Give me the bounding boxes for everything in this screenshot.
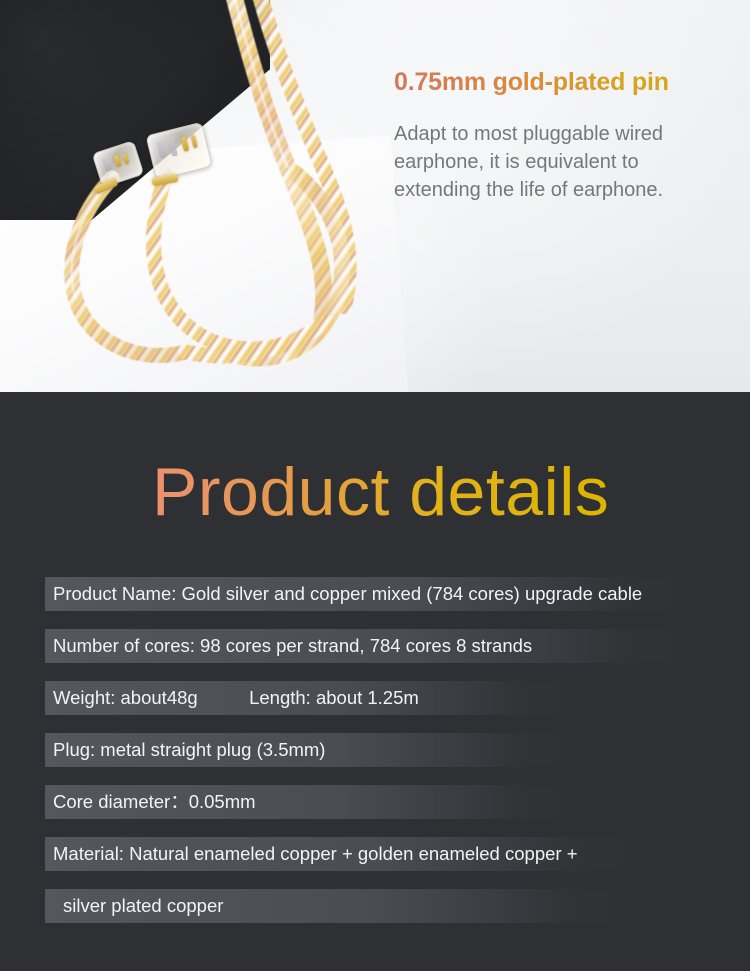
spec-row: Weight: about48g Length: about 1.25m [0,681,750,725]
spec-row-text: Core diameter：0.05mm [53,787,256,817]
hero-body-text: Adapt to most pluggable wired earphone, … [394,120,724,204]
spec-row-text: Plug: metal straight plug (3.5mm) [53,735,325,765]
hero-headline: 0.75mm gold-plated pin [394,68,744,97]
spec-row-text: Material: Natural enameled copper + gold… [53,839,578,869]
spec-row-text: Number of cores: 98 cores per strand, 78… [53,631,532,661]
spec-list: Product Name: Gold silver and copper mix… [0,577,750,941]
product-photo-section: 0.75mm gold-plated pin Adapt to most plu… [0,0,750,392]
spec-row-text: Weight: about48g Length: about 1.25m [53,683,419,713]
spec-row: Plug: metal straight plug (3.5mm) [0,733,750,777]
spec-row: Core diameter：0.05mm [0,785,750,829]
spec-row: silver plated copper [0,889,750,933]
spec-row: Material: Natural enameled copper + gold… [0,837,750,881]
product-details-section: Product details Product Name: Gold silve… [0,392,750,971]
product-detail-page: 0.75mm gold-plated pin Adapt to most plu… [0,0,750,971]
spec-row-text: Product Name: Gold silver and copper mix… [53,579,642,609]
spec-row: Number of cores: 98 cores per strand, 78… [0,629,750,673]
spec-row: Product Name: Gold silver and copper mix… [0,577,750,621]
product-details-title: Product details [152,458,609,526]
spec-row-text: silver plated copper [63,891,223,921]
